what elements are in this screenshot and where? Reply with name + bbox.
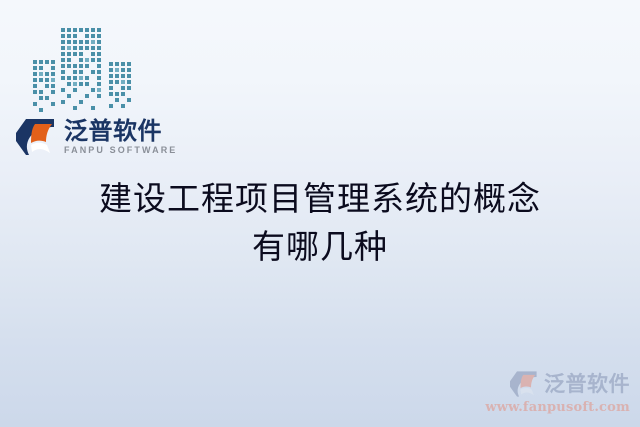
brand-name-cn: 泛普软件 [64,119,177,143]
watermark: 泛普软件 www.fanpusoft.com [468,370,630,415]
watermark-url: www.fanpusoft.com [468,400,630,415]
watermark-logo-row: 泛普软件 [468,370,630,398]
page-title: 建设工程项目管理系统的概念 有哪几种 [0,175,640,271]
page-title-line-2: 有哪几种 [0,223,640,271]
pixel-building-skyline-icon [24,24,140,116]
slide-canvas: 泛普软件 FANPU SOFTWARE 建设工程项目管理系统的概念 有哪几种 泛… [0,0,640,427]
watermark-logo-mark-icon [508,370,540,398]
brand-logo-wordmark: 泛普软件 FANPU SOFTWARE [64,119,177,155]
brand-logo: 泛普软件 FANPU SOFTWARE [14,117,177,157]
fanpu-logo-mark-icon [14,117,58,157]
brand-name-en: FANPU SOFTWARE [64,146,177,155]
page-title-line-1: 建设工程项目管理系统的概念 [0,175,640,223]
watermark-name-cn: 泛普软件 [544,374,630,395]
